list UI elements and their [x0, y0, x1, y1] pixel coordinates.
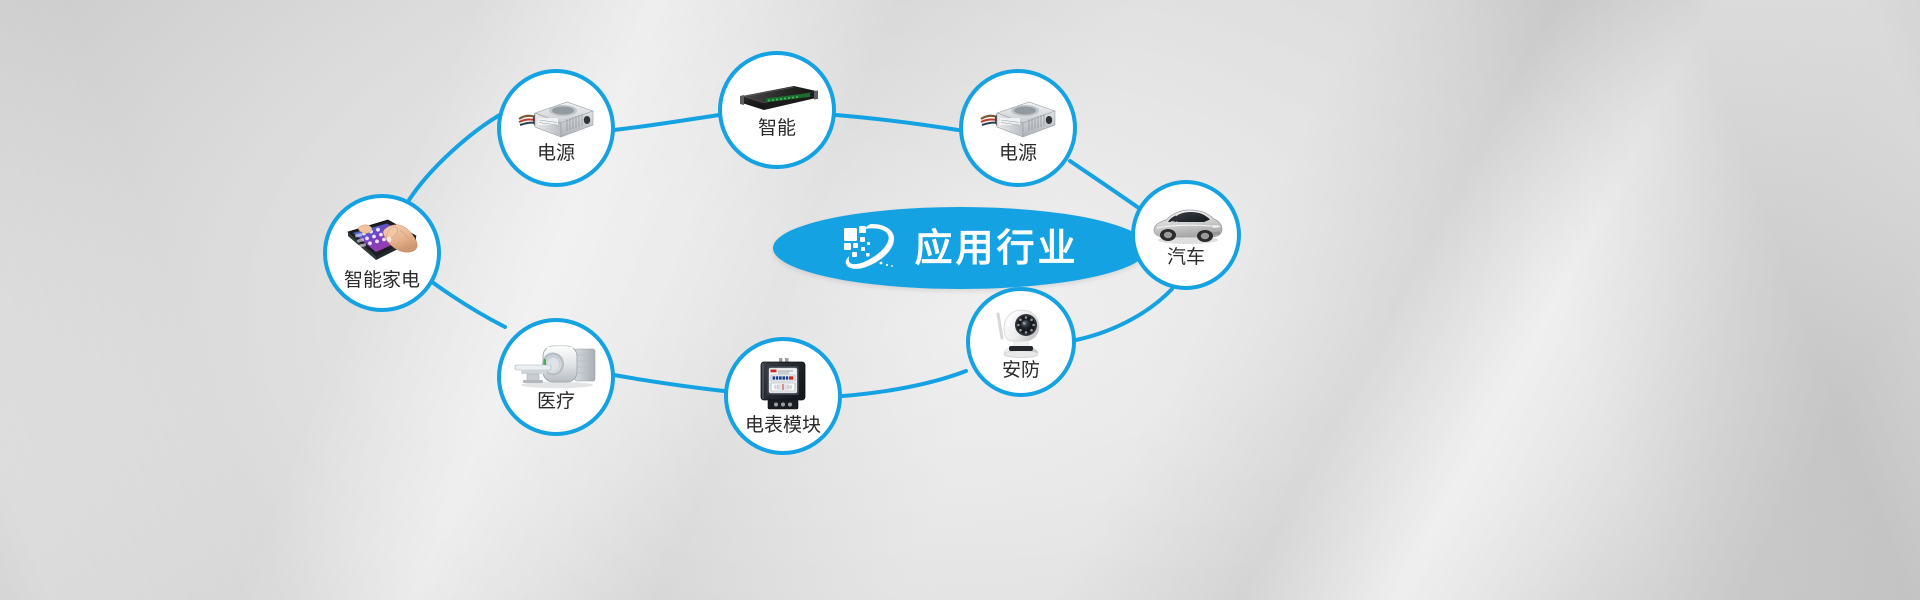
- node-medical-label: 医疗: [537, 392, 575, 411]
- tablet-touch-hand-icon: [342, 216, 422, 268]
- center-badge[interactable]: 应用行业: [773, 207, 1148, 289]
- mri-ct-scanner-icon: [513, 343, 599, 389]
- node-power-right[interactable]: 电源: [959, 69, 1077, 187]
- node-security[interactable]: 安防: [966, 287, 1076, 397]
- node-meter-label: 电表模块: [745, 416, 821, 435]
- node-medical[interactable]: 医疗: [497, 318, 615, 436]
- node-security-art: [970, 304, 1072, 358]
- node-automotive[interactable]: 汽车: [1131, 180, 1241, 290]
- node-power-left-art: [501, 93, 611, 141]
- node-appliance[interactable]: 智能家电: [323, 194, 441, 312]
- node-meter[interactable]: 电表模块: [724, 337, 842, 455]
- ip-security-camera-icon: [992, 304, 1050, 358]
- rack-mount-server-icon: [736, 82, 818, 116]
- node-appliance-art: [327, 216, 437, 268]
- node-power-right-label: 电源: [999, 144, 1037, 163]
- atx-power-supply-icon: [517, 93, 595, 141]
- node-smart-art: [722, 82, 832, 116]
- banner-stage: 应用行业: [0, 0, 1920, 600]
- node-appliance-label: 智能家电: [344, 271, 420, 290]
- node-smart[interactable]: 智能: [718, 51, 836, 169]
- node-power-right-art: [963, 93, 1073, 141]
- background-gradient: [0, 0, 1920, 600]
- node-medical-art: [501, 343, 611, 389]
- node-automotive-art: [1135, 203, 1237, 245]
- atx-power-supply-icon: [979, 93, 1057, 141]
- node-power-left-label: 电源: [537, 144, 575, 163]
- sports-car-icon: [1148, 203, 1224, 245]
- orbit-swoosh-pixels-icon: [842, 222, 898, 274]
- node-meter-art: [728, 357, 838, 413]
- node-power-left[interactable]: 电源: [497, 69, 615, 187]
- electricity-meter-icon: [755, 357, 811, 413]
- node-security-label: 安防: [1002, 361, 1040, 380]
- node-smart-label: 智能: [758, 119, 796, 138]
- center-badge-label: 应用行业: [914, 229, 1078, 267]
- node-automotive-label: 汽车: [1167, 248, 1205, 267]
